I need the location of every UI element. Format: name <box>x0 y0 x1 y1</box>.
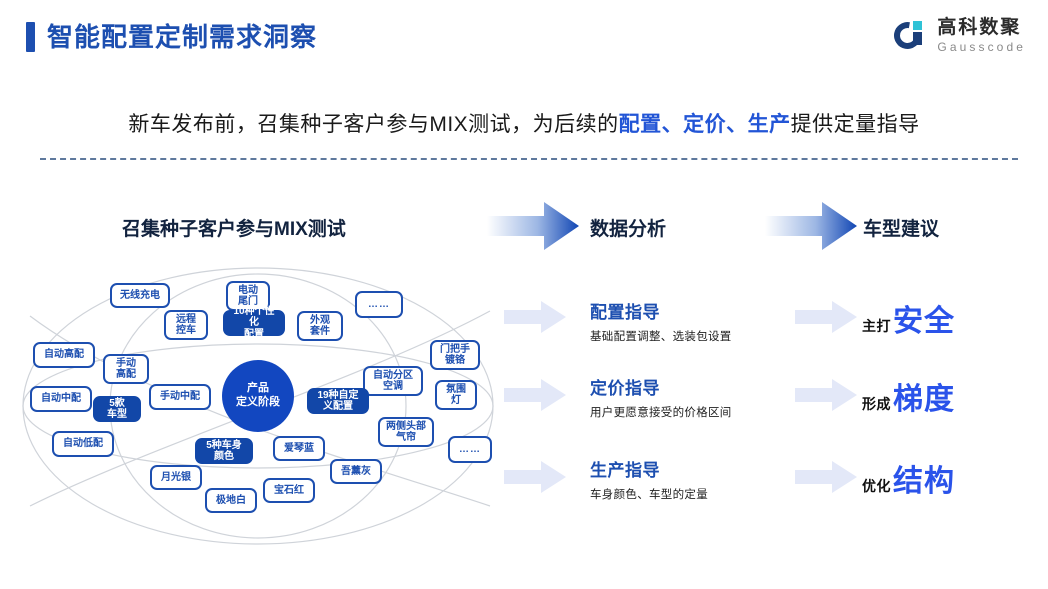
stage-header-3: 车型建议 <box>863 214 939 241</box>
stage-arrow-1-icon <box>487 200 579 252</box>
diagram-node-chip: 手动 高配 <box>103 354 149 384</box>
insight-arrow-left-1-icon <box>504 300 566 334</box>
diagram-center-node: 产品 定义阶段 <box>222 360 294 432</box>
gausscode-logo-icon <box>894 19 928 53</box>
diagram-category-chip: 5种车身 颜色 <box>195 438 253 464</box>
title-accent-bar <box>26 22 35 52</box>
diagram-node-chip: 自动分区 空调 <box>363 366 423 396</box>
stage-arrow-2-icon <box>765 200 857 252</box>
diagram-node-chip: 极地白 <box>205 488 257 513</box>
result-keyword-3: 结构 <box>893 456 955 500</box>
diagram-node-chip: 自动高配 <box>33 342 95 368</box>
diagram-node-chip: 手动中配 <box>149 384 211 410</box>
insight-desc-1: 基础配置调整、选装包设置 <box>590 328 732 344</box>
diagram-category-chip: 10种个性化 配置 <box>223 310 285 336</box>
subtitle-highlight: 配置、定价、生产 <box>619 113 791 136</box>
insight-title-3: 生产指导 <box>590 456 708 481</box>
insight-item-1: 配置指导 基础配置调整、选装包设置 <box>590 298 732 344</box>
diagram-category-chip: 19种自定 义配置 <box>307 388 369 414</box>
result-prefix-3: 优化 <box>862 476 891 496</box>
diagram-node-chip: …… <box>448 436 492 463</box>
brand-logo: 高科数聚 Gausscode <box>894 18 1026 53</box>
insight-desc-3: 车身颜色、车型的定量 <box>590 486 708 502</box>
result-keyword-1: 安全 <box>893 296 955 340</box>
diagram-category-chip: 5款 车型 <box>93 396 141 422</box>
result-arrow-2-icon <box>795 378 857 412</box>
diagram-node-chip: 门把手 镀铬 <box>430 340 480 370</box>
diagram-node-chip: 宝石红 <box>263 478 315 503</box>
diagram-node-chip: 两侧头部 气帘 <box>378 417 434 447</box>
subtitle: 新车发布前，召集种子客户参与MIX测试，为后续的配置、定价、生产提供定量指导 <box>0 108 1048 138</box>
insight-desc-2: 用户更愿意接受的价格区间 <box>590 404 732 420</box>
diagram-node-chip: 氛围 灯 <box>435 380 477 410</box>
insight-item-3: 生产指导 车身颜色、车型的定量 <box>590 456 708 502</box>
result-arrow-1-icon <box>795 300 857 334</box>
diagram-node-chip: 爱琴蓝 <box>273 436 325 461</box>
diagram-node-chip: 外观 套件 <box>297 311 343 341</box>
logo-chinese-name: 高科数聚 <box>937 18 1026 37</box>
result-item-1: 主打 安全 <box>862 296 955 340</box>
diagram-node-chip: 远程 控车 <box>164 310 208 340</box>
diagram-node-chip: 月光银 <box>150 465 202 490</box>
insight-arrow-left-2-icon <box>504 378 566 412</box>
result-prefix-2: 形成 <box>862 394 891 414</box>
slide-root: 智能配置定制需求洞察 高科数聚 Gausscode 新车发布前，召集种子客户参与… <box>0 0 1048 589</box>
result-keyword-2: 梯度 <box>893 374 955 418</box>
result-item-3: 优化 结构 <box>862 456 955 500</box>
diagram-node-chip: …… <box>355 291 403 318</box>
stage-header-1: 召集种子客户参与MIX测试 <box>122 214 346 241</box>
diagram-node-chip: 无线充电 <box>110 283 170 308</box>
logo-english-name: Gausscode <box>937 41 1026 53</box>
insight-title-2: 定价指导 <box>590 374 732 399</box>
insight-arrow-left-3-icon <box>504 460 566 494</box>
result-arrow-3-icon <box>795 460 857 494</box>
subtitle-part2: 提供定量指导 <box>791 113 920 136</box>
diagram-node-chip: 自动低配 <box>52 431 114 457</box>
result-item-2: 形成 梯度 <box>862 374 955 418</box>
insight-item-2: 定价指导 用户更愿意接受的价格区间 <box>590 374 732 420</box>
diagram-node-chip: 自动中配 <box>30 386 92 412</box>
product-definition-diagram: 产品 定义阶段 无线充电电动 尾门……远程 控车外观 套件门把手 镀铬自动高配手… <box>10 256 510 546</box>
title-text: 智能配置定制需求洞察 <box>47 22 317 52</box>
insight-title-1: 配置指导 <box>590 298 732 323</box>
page-title: 智能配置定制需求洞察 <box>26 22 317 52</box>
stage-header-2: 数据分析 <box>590 214 666 241</box>
subtitle-part1: 新车发布前，召集种子客户参与MIX测试，为后续的 <box>128 113 618 136</box>
result-prefix-1: 主打 <box>862 316 891 336</box>
diagram-node-chip: 吾薰灰 <box>330 459 382 484</box>
section-divider <box>40 158 1018 160</box>
